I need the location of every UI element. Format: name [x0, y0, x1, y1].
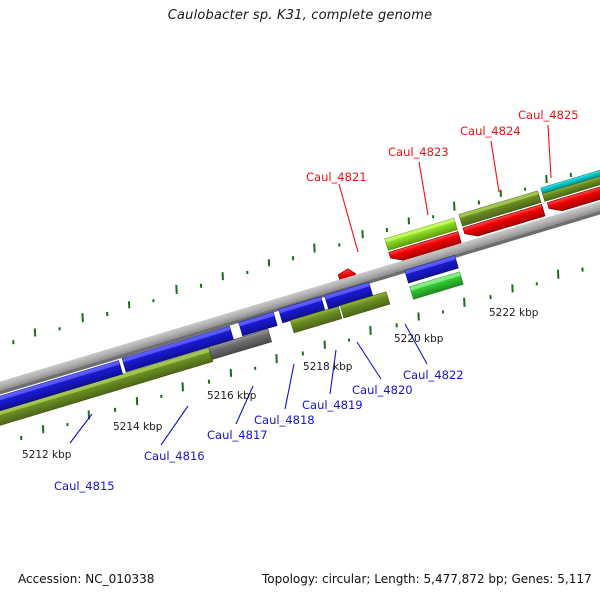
leader-Caul_4820 [357, 342, 381, 379]
gene-label-Caul_4821[interactable]: Caul_4821 [306, 170, 367, 184]
leader-Caul_4823 [419, 162, 428, 215]
leader-Caul_4816 [161, 406, 188, 445]
genome-map-canvas [0, 0, 600, 600]
gene-label-Caul_4815[interactable]: Caul_4815 [54, 479, 115, 493]
tick-label-5214: 5214 kbp [113, 421, 162, 433]
gene-label-Caul_4825[interactable]: Caul_4825 [518, 108, 579, 122]
leader-Caul_4821 [339, 184, 358, 252]
genome-viewer: Caulobacter sp. K31, complete genome [0, 0, 600, 600]
gene-label-Caul_4823[interactable]: Caul_4823 [388, 145, 449, 159]
tick-label-5216: 5216 kbp [207, 390, 256, 402]
gene-label-Caul_4819[interactable]: Caul_4819 [302, 398, 363, 412]
gene-label-Caul_4820[interactable]: Caul_4820 [352, 383, 413, 397]
tick-label-5220: 5220 kbp [394, 333, 443, 345]
tick-label-5218: 5218 kbp [303, 361, 352, 373]
gene-label-Caul_4822[interactable]: Caul_4822 [403, 368, 464, 382]
tick-marks-upper [0, 167, 573, 352]
leader-Caul_4824 [491, 141, 499, 192]
tick-label-5212: 5212 kbp [22, 449, 71, 461]
gene-label-Caul_4818[interactable]: Caul_4818 [254, 413, 315, 427]
leader-Caul_4818 [285, 364, 294, 409]
gene-label-Caul_4817[interactable]: Caul_4817 [207, 428, 268, 442]
leader-Caul_4825 [548, 125, 551, 178]
tick-label-5222: 5222 kbp [489, 307, 538, 319]
gene-label-Caul_4824[interactable]: Caul_4824 [460, 124, 521, 138]
genome-stats-text: Topology: circular; Length: 5,477,872 bp… [262, 572, 592, 586]
accession-text: Accession: NC_010338 [18, 572, 154, 586]
leader-Caul_4815 [70, 414, 92, 443]
gene-label-Caul_4816[interactable]: Caul_4816 [144, 449, 205, 463]
